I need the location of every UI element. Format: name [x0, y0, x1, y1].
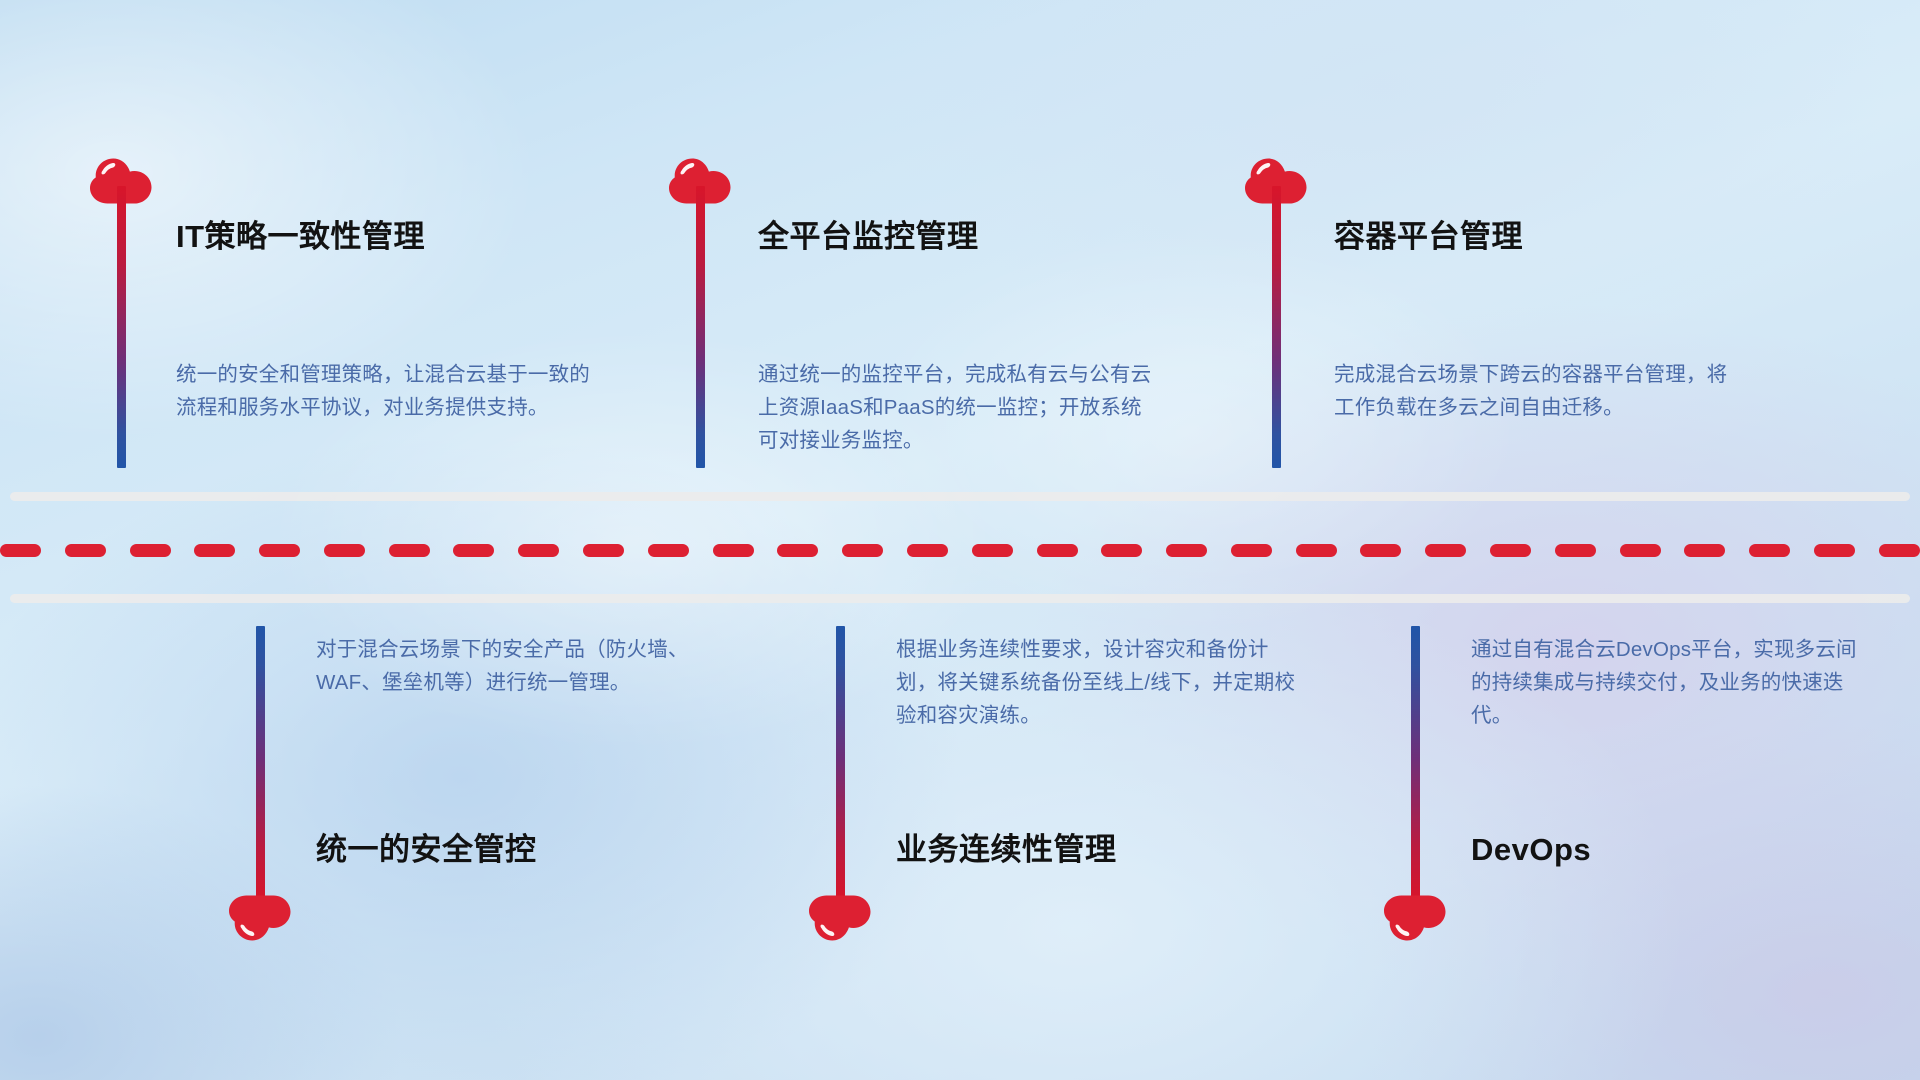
divider-dash	[842, 544, 883, 557]
divider-dash	[1101, 544, 1142, 557]
timeline-stem	[696, 186, 705, 468]
divider-dash	[907, 544, 948, 557]
divider-dash	[389, 544, 430, 557]
divider-dash	[1490, 544, 1531, 557]
divider-dash	[1166, 544, 1207, 557]
top-item-1-title: IT策略一致性管理	[176, 221, 425, 252]
top-item-3-description: 完成混合云场景下跨云的容器平台管理，将工作负载在多云之间自由迁移。	[1334, 358, 1744, 424]
divider-dash	[1231, 544, 1272, 557]
bottom-item-2-title: 业务连续性管理	[896, 834, 1117, 865]
bottom-item-1-description: 对于混合云场景下的安全产品（防火墙、WAF、堡垒机等）进行统一管理。	[316, 633, 736, 699]
divider-dash	[1360, 544, 1401, 557]
divider-dash	[713, 544, 754, 557]
divider-dash	[130, 544, 171, 557]
divider-dash	[0, 544, 41, 557]
divider-dash	[324, 544, 365, 557]
divider-dash	[259, 544, 300, 557]
top-item-2-description: 通过统一的监控平台，完成私有云与公有云上资源IaaS和PaaS的统一监控；开放系…	[758, 358, 1158, 457]
bottom-item-3-description: 通过自有混合云DevOps平台，实现多云间的持续集成与持续交付，及业务的快速迭代…	[1471, 633, 1871, 732]
divider-dash	[1037, 544, 1078, 557]
divider-dash	[1620, 544, 1661, 557]
timeline-stem	[256, 626, 265, 902]
cloud-pin-icon	[1384, 895, 1446, 941]
divider-dash	[1296, 544, 1337, 557]
divider-dash	[453, 544, 494, 557]
cloud-pin-icon	[809, 895, 871, 941]
bottom-item-1-title: 统一的安全管控	[316, 834, 537, 865]
bottom-item-3-title: DevOps	[1471, 834, 1591, 865]
divider-dash	[583, 544, 624, 557]
divider-dash	[1879, 544, 1920, 557]
divider-dash	[1425, 544, 1466, 557]
divider-dash	[972, 544, 1013, 557]
divider-rule-top	[10, 492, 1910, 501]
timeline-stem	[1272, 186, 1281, 468]
divider-dash	[518, 544, 559, 557]
divider-dash	[65, 544, 106, 557]
divider-dashed-rule	[0, 544, 1920, 557]
top-item-3-title: 容器平台管理	[1334, 221, 1523, 252]
bottom-item-2-description: 根据业务连续性要求，设计容灾和备份计划，将关键系统备份至线上/线下，并定期校验和…	[896, 633, 1306, 732]
cloud-pin-icon	[229, 895, 291, 941]
timeline-stem	[1411, 626, 1420, 902]
timeline-stem	[836, 626, 845, 902]
divider-dash	[194, 544, 235, 557]
timeline-stem	[117, 186, 126, 468]
divider-rule-bottom	[10, 594, 1910, 603]
divider-dash	[777, 544, 818, 557]
divider-dash	[648, 544, 689, 557]
divider-dash	[1749, 544, 1790, 557]
divider-dash	[1555, 544, 1596, 557]
divider-dash	[1814, 544, 1855, 557]
top-item-2-title: 全平台监控管理	[758, 221, 979, 252]
divider-dash	[1684, 544, 1725, 557]
top-item-1-description: 统一的安全和管理策略，让混合云基于一致的流程和服务水平协议，对业务提供支持。	[176, 358, 596, 424]
